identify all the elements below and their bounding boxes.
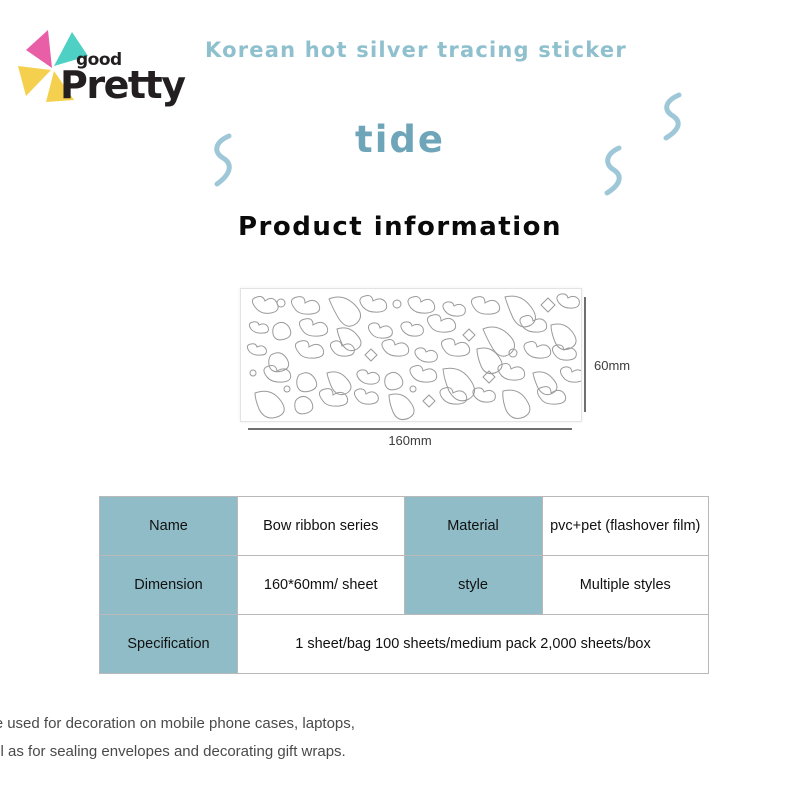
table-cell-label: Dimension: [100, 556, 238, 615]
footer-line-1: can be used for decoration on mobile pho…: [0, 710, 518, 738]
footer-description: can be used for decoration on mobile pho…: [0, 710, 518, 766]
section-heading-product-information: Product information: [0, 212, 800, 242]
logo-wordmark: Pretty: [60, 66, 184, 104]
table-cell-value: 160*60mm/ sheet: [238, 556, 405, 615]
page-header-title: Korean hot silver tracing sticker: [205, 38, 627, 62]
product-image: [240, 288, 582, 422]
table-cell-label: Name: [100, 497, 238, 556]
dimension-line-vertical: [584, 297, 586, 412]
table-cell-value: 1 sheet/bag 100 sheets/medium pack 2,000…: [238, 615, 709, 674]
footer-line-2: as well as for sealing envelopes and dec…: [0, 738, 518, 766]
hero-title: tide: [0, 118, 800, 161]
table-cell-value: Bow ribbon series: [238, 497, 405, 556]
dimension-label-width: 160mm: [248, 433, 572, 448]
product-detail-page: good Pretty Korean hot silver tracing st…: [0, 0, 800, 800]
sticker-sheet-pattern-icon: [241, 289, 581, 421]
table-row: Dimension 160*60mm/ sheet style Multiple…: [100, 556, 709, 615]
specification-table: Name Bow ribbon series Material pvc+pet …: [99, 496, 709, 674]
brand-logo: good Pretty: [14, 28, 204, 108]
table-cell-label: style: [404, 556, 542, 615]
table-cell-value: pvc+pet (flashover film): [542, 497, 709, 556]
dimension-label-height: 60mm: [594, 358, 630, 373]
table-row: Specification 1 sheet/bag 100 sheets/med…: [100, 615, 709, 674]
table-cell-label: Specification: [100, 615, 238, 674]
table-row: Name Bow ribbon series Material pvc+pet …: [100, 497, 709, 556]
table-cell-value: Multiple styles: [542, 556, 709, 615]
dimension-line-horizontal: [248, 428, 572, 430]
table-cell-label: Material: [404, 497, 542, 556]
